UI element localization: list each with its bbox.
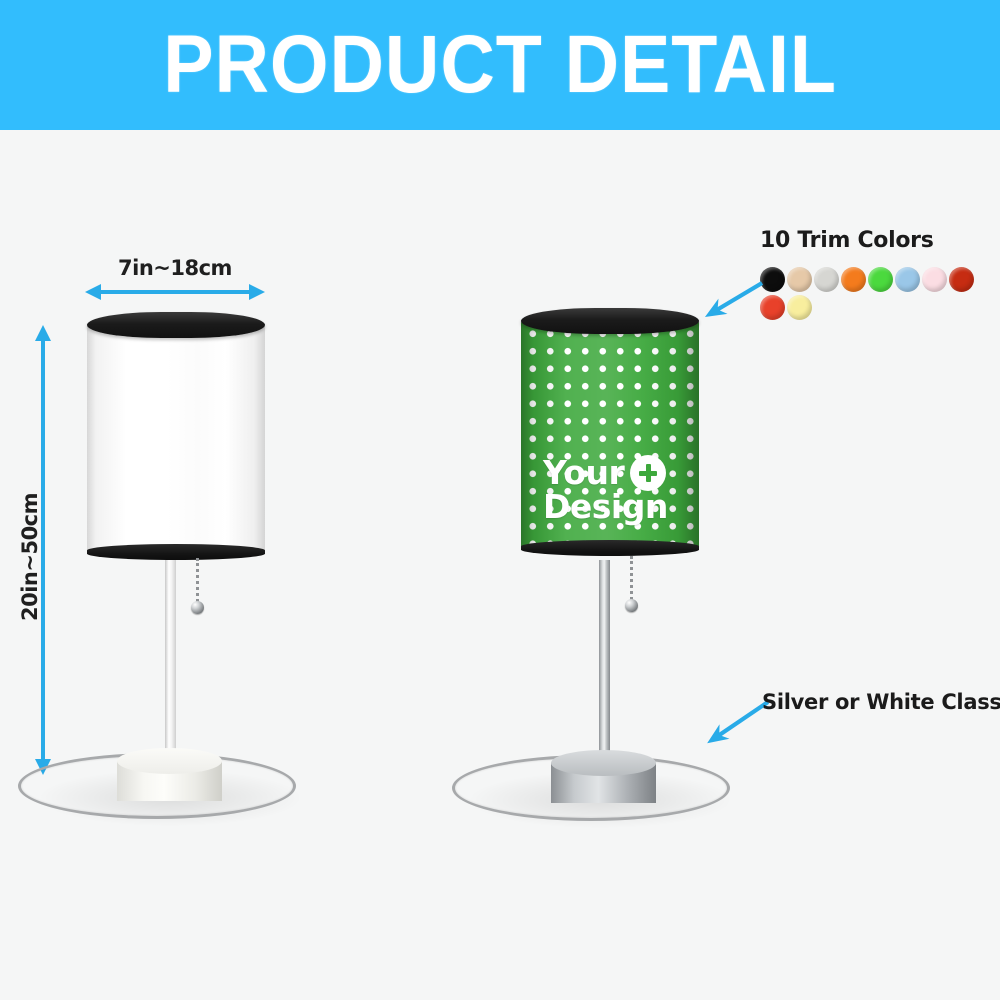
height-dimension-label: 20in~50cm — [18, 447, 42, 667]
trim-swatch-dark-red[interactable] — [949, 267, 974, 292]
green-lamp-pull-chain[interactable] — [630, 556, 646, 618]
trim-colors-panel: 10 Trim Colors — [760, 228, 1000, 320]
white-shade-top-trim — [87, 312, 265, 338]
width-dimension-label: 7in~18cm — [85, 256, 265, 280]
green-shade-bottom-trim — [521, 540, 699, 556]
green-shade-top-trim — [521, 308, 699, 334]
plus-circle-icon — [630, 455, 666, 491]
trim-swatch-pink[interactable] — [922, 267, 947, 292]
white-lamp-shade — [87, 312, 265, 564]
white-lamp-stem — [165, 557, 176, 762]
base-finish-callout-arrow-icon — [700, 700, 770, 748]
trim-swatch-orange[interactable] — [841, 267, 866, 292]
trim-swatch-tan[interactable] — [787, 267, 812, 292]
trim-swatch-light-blue[interactable] — [895, 267, 920, 292]
trim-swatch-green[interactable] — [868, 267, 893, 292]
white-shade-bottom-trim — [87, 544, 265, 560]
product-detail-image: PRODUCT DETAIL 7in~18cm 20in~50cm — [0, 0, 1000, 1000]
trim-callout-arrow-icon — [700, 281, 764, 321]
white-lamp-base — [117, 748, 222, 804]
white-lamp-pull-chain[interactable] — [196, 558, 212, 620]
base-finish-label: Silver or White Classy — [762, 690, 1000, 714]
width-dimension-arrow-icon — [85, 284, 265, 300]
green-shade-surface: Your Design — [521, 321, 699, 549]
header-banner: PRODUCT DETAIL — [0, 0, 1000, 130]
design-logo-line1: Your — [543, 457, 624, 489]
green-lamp-base — [551, 750, 656, 806]
green-lamp-stem — [599, 560, 610, 765]
trim-swatch-pale-yellow[interactable] — [787, 295, 812, 320]
page-title: PRODUCT DETAIL — [163, 24, 837, 106]
trim-colors-title: 10 Trim Colors — [760, 228, 1000, 253]
green-lamp-shade: Your Design — [521, 308, 699, 560]
your-design-logo: Your Design — [543, 455, 668, 523]
trim-swatch-light-gray[interactable] — [814, 267, 839, 292]
white-shade-surface — [87, 325, 265, 553]
trim-color-swatch-list — [760, 267, 998, 320]
design-logo-line2: Design — [543, 491, 668, 523]
